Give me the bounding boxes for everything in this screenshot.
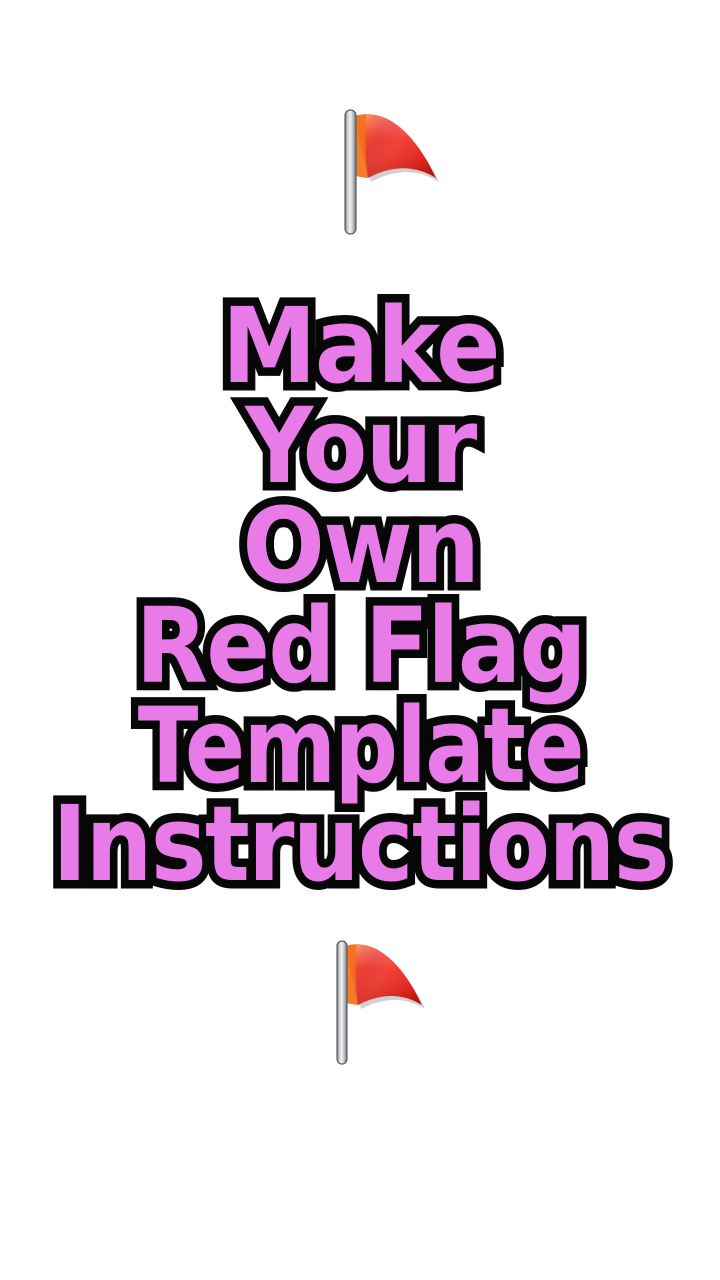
headline-line-1-text: Make: [222, 296, 499, 396]
headline-line-5-text: Template: [137, 696, 582, 796]
headline-block: Make Your Own Red Flag Template Instruct…: [0, 296, 720, 894]
headline-line-3: Own: [0, 496, 720, 596]
headline-line-1: Make: [0, 296, 720, 396]
poster-canvas: Make Your Own Red Flag Template Instruct…: [0, 0, 720, 1280]
headline-line-4: Red Flag: [0, 596, 720, 696]
headline-line-2-text: Your: [245, 396, 475, 496]
headline-line-6: Instructions: [0, 794, 720, 894]
headline-line-5: Template: [0, 696, 720, 796]
triangular-flag-icon: [325, 936, 429, 1068]
headline-line-3-text: Own: [242, 496, 478, 596]
headline-line-2: Your: [0, 396, 720, 496]
headline-line-4-text: Red Flag: [135, 596, 584, 696]
triangular-flag-icon: [332, 104, 444, 238]
headline-line-6-text: Instructions: [52, 794, 667, 894]
